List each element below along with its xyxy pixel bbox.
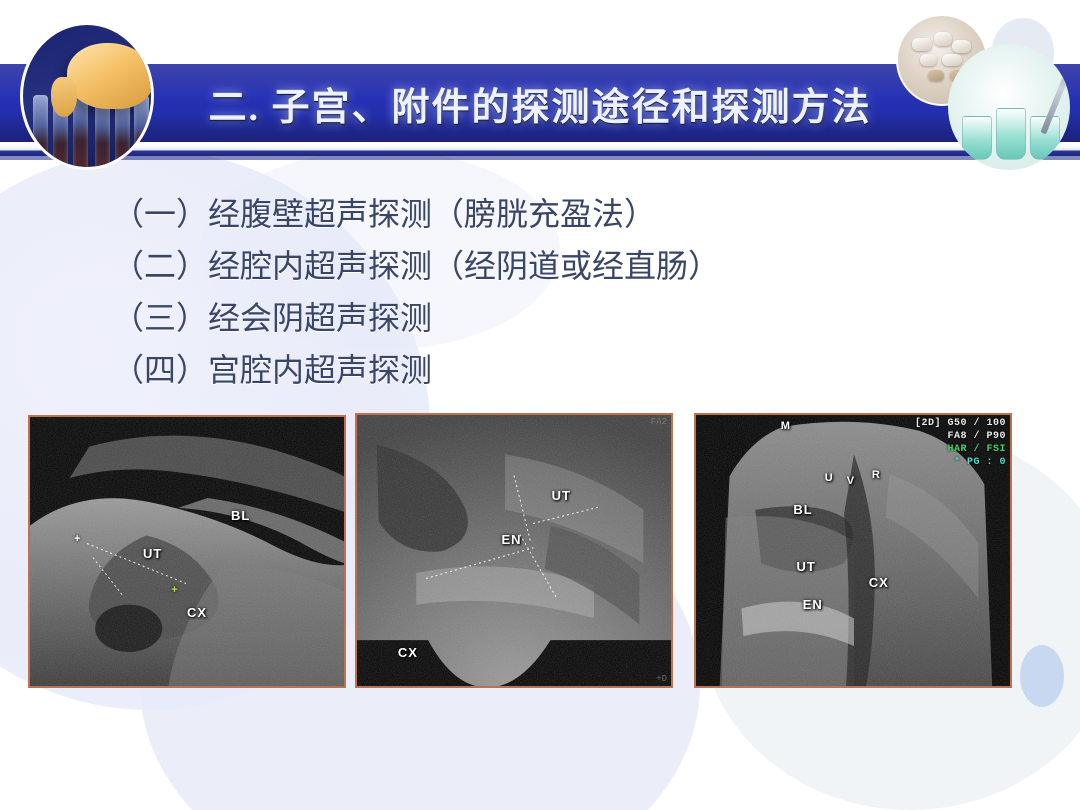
gloved-finger-icon	[51, 77, 77, 117]
ultrasound-image-intracavitary: M U V R BL UT CX EN [2D] G50 / 100 FA8 /…	[694, 413, 1012, 688]
us-label-bl: BL	[793, 502, 812, 517]
caliper-marker: +	[74, 533, 80, 545]
content-list: （一）经腹壁超声探测（膀胱充盈法） （二）经腔内超声探测（经阴道或经直肠） （三…	[112, 188, 962, 396]
gloved-hand-icon	[67, 43, 153, 109]
list-item: （四）宫腔内超声探测	[112, 344, 962, 396]
us-label-cx: CX	[187, 605, 207, 620]
banner-underline-secondary	[0, 156, 1080, 160]
us-label-en: EN	[501, 532, 521, 547]
pill-icon	[952, 40, 971, 53]
pill-icon	[942, 54, 962, 66]
beakers-pipette-photo	[948, 44, 1070, 170]
pill-icon	[934, 32, 952, 46]
us-label-u: U	[825, 472, 834, 484]
pill-icon	[912, 38, 932, 51]
ultrasound-image-transabdominal: BL UT CX + +	[28, 415, 346, 688]
list-item: （三）经会阴超声探测	[112, 292, 962, 344]
pill-icon	[920, 54, 937, 66]
corner-marker-bottom-right: +D	[656, 674, 667, 684]
osd-line-2d-gain: [2D] G50 / 100	[915, 418, 1006, 429]
osd-line-fa-p: FA8 / P90	[947, 431, 1006, 442]
beaker-icon	[996, 108, 1026, 160]
test-tube-icon	[134, 95, 149, 170]
beaker-icon	[962, 116, 992, 160]
lab-gloved-hand-photo	[20, 22, 154, 170]
us-label-ut: UT	[143, 546, 162, 561]
us-label-bl: BL	[231, 508, 250, 523]
list-item: （一）经腹壁超声探测（膀胱充盈法）	[112, 188, 962, 240]
us-label-en: EN	[803, 597, 823, 612]
us-label-ut: UT	[552, 488, 571, 503]
presentation-slide: 二. 子宫、附件的探测途径和探测方法 （一）经腹壁超声探测（膀胱充盈法） （二）…	[0, 0, 1080, 810]
osd-line-har-fsi: HAR / FSI	[947, 444, 1006, 455]
us-label-cx: CX	[869, 575, 889, 590]
ultrasound-scan-graphic-1	[30, 417, 344, 687]
test-tube-icon	[33, 95, 48, 170]
background-oval-right	[1020, 645, 1064, 707]
us-label-m: M	[781, 420, 791, 432]
us-label-v: V	[847, 475, 855, 487]
pill-icon	[928, 70, 944, 81]
ultrasound-scan-graphic-3	[696, 415, 1010, 687]
us-label-ut: UT	[796, 559, 815, 574]
corner-marker-top-right: FA2	[651, 417, 667, 427]
osd-line-pg: * PG : 0	[954, 457, 1006, 468]
caliper-marker: +	[171, 584, 177, 596]
banner-underline	[0, 146, 1080, 156]
us-label-r: R	[872, 469, 881, 481]
list-item: （二）经腔内超声探测（经阴道或经直肠）	[112, 240, 962, 292]
us-label-cx: CX	[398, 645, 418, 660]
ultrasound-image-transvaginal: UT EN CX FA2 +D	[355, 413, 673, 688]
